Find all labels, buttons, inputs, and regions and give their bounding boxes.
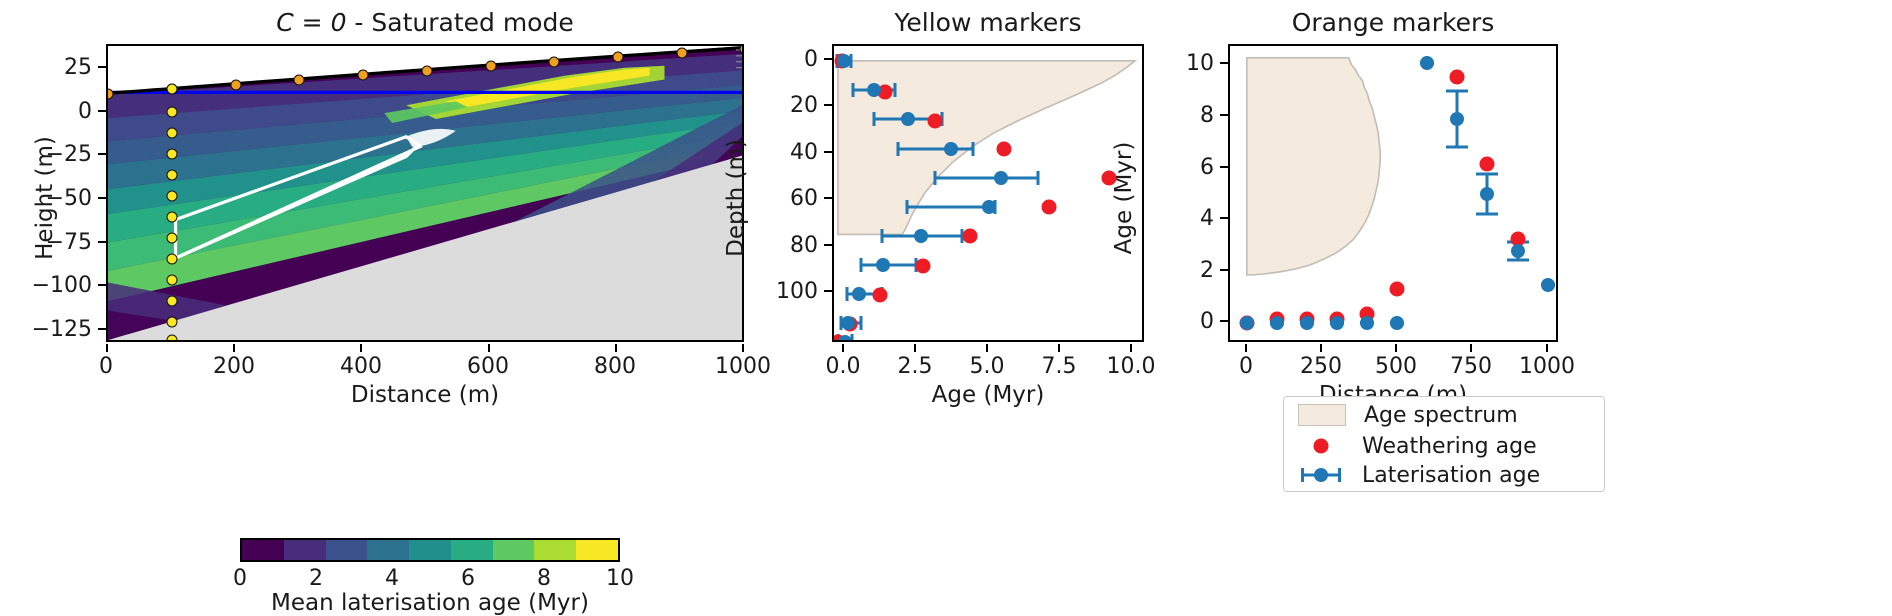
error-cap — [860, 258, 863, 272]
tick-mark — [98, 284, 106, 286]
laterisation-age-point — [914, 229, 928, 243]
xtick-label: 250 — [1291, 354, 1351, 379]
age-spectrum-swatch — [1298, 404, 1346, 426]
xtick-label: 7.5 — [1029, 354, 1089, 379]
colorbar-tick-label: 4 — [364, 566, 420, 591]
depth-marker — [167, 275, 178, 286]
laterisation-age-point — [1270, 316, 1284, 330]
tick-mark — [1395, 344, 1397, 352]
tick-mark — [1130, 344, 1132, 352]
legend-label: Laterisation age — [1362, 463, 1540, 488]
tick-mark — [1470, 344, 1472, 352]
surface-marker — [358, 70, 369, 81]
ytick-label: 40 — [738, 140, 818, 165]
tick-mark — [1220, 320, 1228, 322]
xtick-label: 2.5 — [885, 354, 945, 379]
laterisation-age-point — [1511, 244, 1525, 258]
tick-mark — [824, 244, 832, 246]
tick-mark — [488, 344, 490, 352]
tick-mark — [233, 344, 235, 352]
legend-item-weathering-age[interactable]: Weathering age — [1284, 430, 1604, 462]
legend-item-laterisation-age[interactable]: Laterisation age — [1284, 459, 1604, 491]
legend-item-age-spectrum[interactable]: Age spectrum — [1284, 399, 1604, 431]
weathering-age-point — [1480, 157, 1495, 172]
weathering-age-point — [963, 229, 978, 244]
tick-mark — [986, 344, 988, 352]
laterisation-age-point — [876, 258, 890, 272]
colorbar-tick-label: 10 — [588, 566, 652, 591]
xtick-label: 10.0 — [1093, 354, 1169, 379]
error-cap — [897, 142, 900, 156]
depth-marker — [167, 170, 178, 181]
age-spectrum-area — [1230, 46, 1556, 340]
tick-mark — [1546, 344, 1548, 352]
panel-a-title-math: C = 0 — [276, 8, 346, 37]
depth-marker — [167, 254, 178, 265]
weathering-age-swatch — [1298, 435, 1344, 457]
colorbar-band — [242, 540, 284, 560]
ytick-label: 8 — [1134, 103, 1214, 128]
tick-mark — [98, 66, 106, 68]
colorbar-band — [284, 540, 326, 560]
surface-marker — [486, 61, 497, 72]
laterisation-age-point — [1330, 316, 1344, 330]
depth-marker — [167, 128, 178, 139]
weathering-age-point — [1390, 282, 1405, 297]
colorbar-band — [409, 540, 451, 560]
laterisation-age-point — [1450, 112, 1464, 126]
weathering-age-point — [997, 142, 1012, 157]
error-cap — [934, 171, 937, 185]
weathering-age-point — [916, 259, 931, 274]
colorbar-band — [534, 540, 576, 560]
depth-marker — [167, 317, 178, 328]
tick-mark — [1220, 269, 1228, 271]
laterisation-age-point — [944, 142, 958, 156]
ytick-label: 25 — [0, 55, 92, 80]
ytick-label: 0 — [1134, 309, 1214, 334]
tick-mark — [1220, 166, 1228, 168]
depth-marker — [167, 233, 178, 244]
xtick-label: 600 — [458, 354, 518, 379]
ytick-label: 2 — [1134, 258, 1214, 283]
tick-mark — [824, 58, 832, 60]
error-cap — [881, 229, 884, 243]
tick-mark — [98, 153, 106, 155]
laterisation-age-point — [841, 316, 855, 330]
laterisation-age-point — [982, 200, 996, 214]
depth-marker — [167, 296, 178, 307]
panel-orange-markers[interactable] — [1228, 44, 1558, 342]
legend[interactable]: Age spectrum Weathering age Laterisation… — [1283, 396, 1605, 492]
weathering-age-point — [873, 288, 888, 303]
colorbar-tick-label: 8 — [516, 566, 572, 591]
error-bar — [897, 148, 974, 151]
tick-mark — [842, 344, 844, 352]
laterisation-age-point — [1541, 278, 1555, 292]
laterisation-age-point — [1480, 187, 1494, 201]
error-cap — [860, 316, 863, 330]
weathering-age-point — [1450, 70, 1465, 85]
colorbar-band — [451, 540, 493, 560]
ytick-label: 100 — [738, 279, 818, 304]
laterisation-age-point — [1390, 316, 1404, 330]
laterisation-age-point — [838, 335, 852, 342]
depth-marker — [167, 107, 178, 118]
error-cap — [1507, 259, 1529, 262]
panel-b-ylabel: Depth (m) — [723, 98, 749, 298]
xtick-label: 5.0 — [957, 354, 1017, 379]
error-cap — [1446, 90, 1468, 93]
colorbar-band — [576, 540, 618, 560]
error-cap — [1476, 213, 1498, 216]
weathering-age-point — [1102, 171, 1117, 186]
tick-mark — [824, 290, 832, 292]
panel-b-title: Yellow markers — [832, 8, 1144, 37]
xtick-label: 750 — [1441, 354, 1501, 379]
error-cap — [906, 200, 909, 214]
xtick-label: 0 — [1216, 354, 1276, 379]
tick-mark — [98, 197, 106, 199]
colorbar-band — [367, 540, 409, 560]
laterisation-age-point — [852, 287, 866, 301]
tick-mark — [1320, 344, 1322, 352]
error-cap — [1446, 146, 1468, 149]
tick-mark — [98, 241, 106, 243]
xtick-label: 1000 — [705, 354, 781, 379]
colorbar-label: Mean laterisation age (Myr) — [240, 590, 620, 616]
ytick-label: −125 — [0, 317, 92, 342]
error-cap — [894, 83, 897, 97]
error-cap — [972, 142, 975, 156]
panel-yellow-markers[interactable] — [832, 44, 1144, 342]
ytick-label: 6 — [1134, 155, 1214, 180]
depth-marker — [167, 191, 178, 202]
xtick-label: 200 — [204, 354, 264, 379]
saturated-mode-field — [108, 46, 742, 340]
panel-b-xlabel: Age (Myr) — [832, 382, 1144, 408]
panel-a-title: C = 0 - Saturated mode — [106, 8, 744, 37]
panel-a-title-rest: - Saturated mode — [346, 8, 573, 37]
tick-mark — [1058, 344, 1060, 352]
ytick-label: 60 — [738, 186, 818, 211]
laterisation-age-point — [901, 112, 915, 126]
panel-c-title: Orange markers — [1228, 8, 1558, 37]
tick-mark — [824, 151, 832, 153]
surface-marker — [422, 66, 433, 77]
xtick-label: 0 — [76, 354, 136, 379]
tick-mark — [360, 344, 362, 352]
tick-mark — [106, 344, 108, 352]
error-cap — [873, 112, 876, 126]
tick-mark — [1220, 114, 1228, 116]
xtick-label: 400 — [331, 354, 391, 379]
error-bar — [934, 177, 1039, 180]
surface-marker — [294, 75, 305, 86]
colorbar[interactable] — [240, 538, 620, 562]
weathering-age-point — [928, 114, 943, 129]
figure-root: C = 0 - Saturated mode — [0, 0, 1892, 606]
surface-marker — [677, 48, 688, 59]
ytick-label: 20 — [738, 93, 818, 118]
depth-marker — [167, 212, 178, 223]
colorbar-band — [326, 540, 368, 560]
tick-mark — [615, 344, 617, 352]
tick-mark — [1220, 62, 1228, 64]
laterisation-age-point — [1240, 316, 1254, 330]
laterisation-age-point — [867, 83, 881, 97]
depth-marker — [167, 84, 178, 95]
tick-mark — [1245, 344, 1247, 352]
surface-marker — [549, 57, 560, 68]
tick-mark — [98, 328, 106, 330]
depth-marker — [167, 149, 178, 160]
depth-marker — [167, 335, 178, 343]
colorbar-tick-label: 2 — [288, 566, 344, 591]
legend-label: Weathering age — [1362, 434, 1537, 459]
ytick-label: 80 — [738, 233, 818, 258]
laterisation-age-point — [994, 171, 1008, 185]
laterisation-age-swatch — [1298, 464, 1344, 486]
tick-mark — [1220, 217, 1228, 219]
xtick-label: 1000 — [1509, 354, 1585, 379]
legend-label: Age spectrum — [1364, 403, 1518, 428]
surface-marker — [613, 52, 624, 63]
surface-marker — [231, 80, 242, 91]
laterisation-age-point — [1300, 316, 1314, 330]
panel-saturated-mode[interactable] — [106, 44, 744, 342]
tick-mark — [824, 104, 832, 106]
error-cap — [852, 83, 855, 97]
panel-a-xlabel: Distance (m) — [106, 382, 744, 408]
tick-mark — [824, 197, 832, 199]
laterisation-age-point — [1360, 316, 1374, 330]
ytick-label: 4 — [1134, 206, 1214, 231]
xtick-label: 500 — [1366, 354, 1426, 379]
error-cap — [1037, 171, 1040, 185]
colorbar-tick-label: 6 — [440, 566, 496, 591]
laterisation-age-point — [1420, 56, 1434, 70]
error-cap — [1476, 173, 1498, 176]
tick-mark — [914, 344, 916, 352]
weathering-age-point — [1042, 200, 1057, 215]
error-cap — [846, 287, 849, 301]
ytick-label: 0 — [738, 47, 818, 72]
laterisation-age-point — [837, 54, 851, 68]
xtick-label: 800 — [585, 354, 645, 379]
tick-mark — [98, 110, 106, 112]
tick-mark — [742, 344, 744, 352]
panel-a-ylabel: Height (m) — [32, 88, 58, 308]
xtick-label: 0.0 — [813, 354, 873, 379]
colorbar-band — [493, 540, 535, 560]
colorbar-tick-label: 0 — [212, 566, 268, 591]
